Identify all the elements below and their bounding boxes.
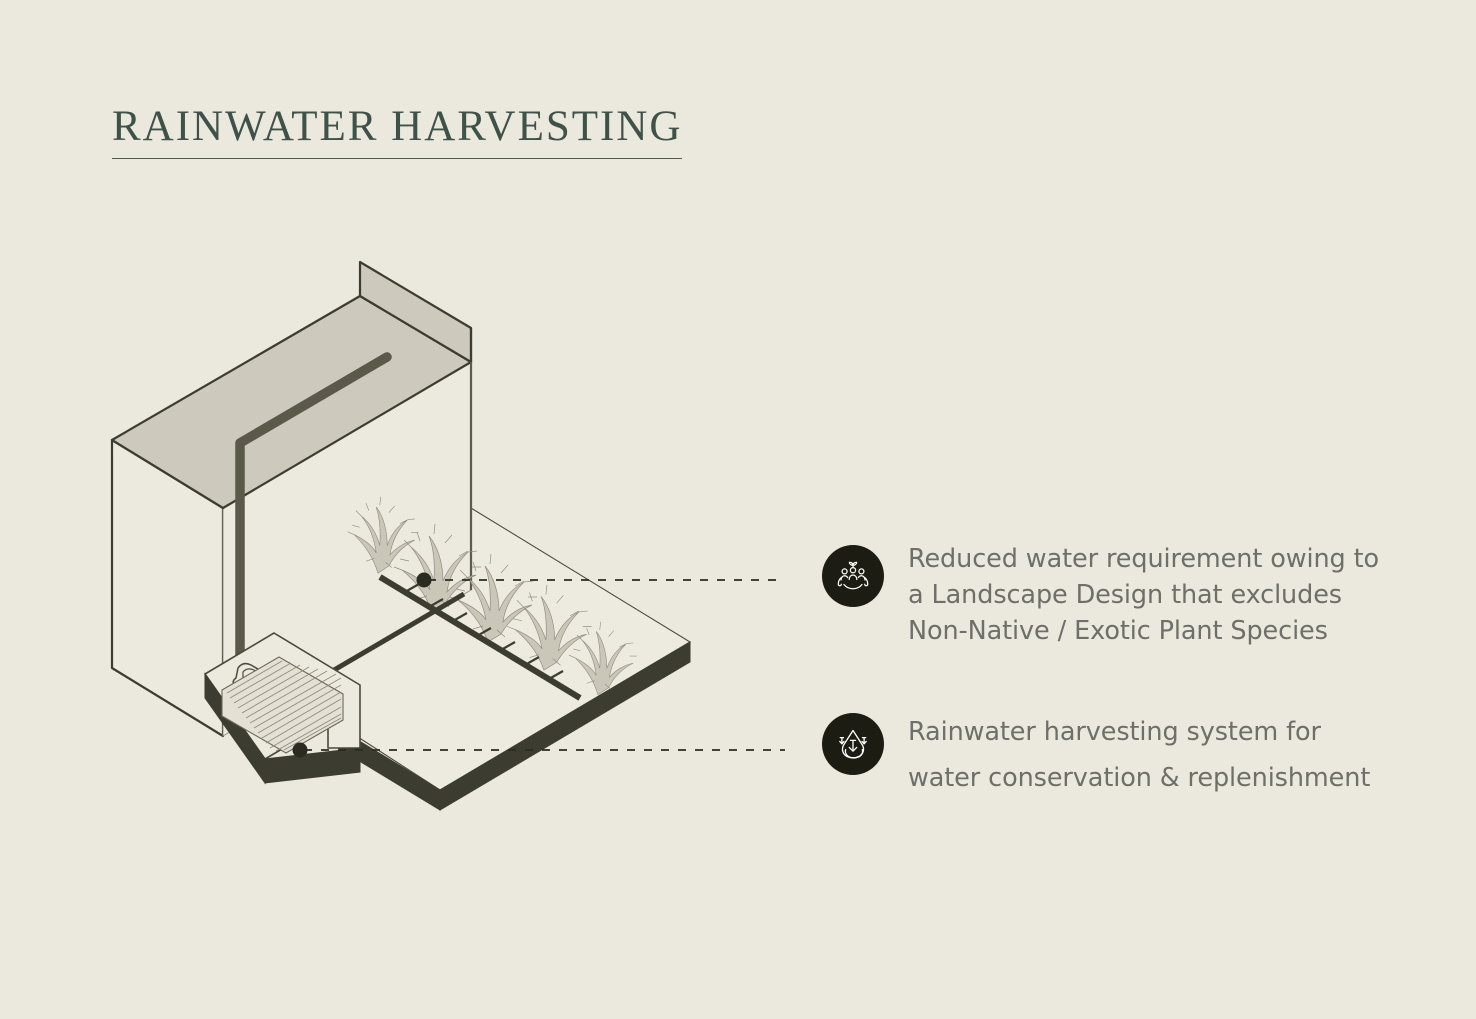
callout-native-planting: Reduced water requirement owing to a Lan… (822, 545, 1422, 649)
callout-line: Rainwater harvesting system for (908, 709, 1370, 755)
page-title: RAINWATER HARVESTING (112, 104, 682, 159)
illustration-svg (60, 250, 820, 870)
callout-line: water conservation & replenishment (908, 755, 1370, 801)
callout-line: Reduced water requirement owing to (908, 541, 1379, 577)
callout-line: a Landscape Design that excludes (908, 577, 1379, 613)
page-title-container: RAINWATER HARVESTING (112, 104, 682, 159)
people-plant-community-icon (822, 545, 884, 607)
infographic-page: RAINWATER HARVESTING (0, 0, 1476, 1019)
callout-native-planting-text: Reduced water requirement owing to a Lan… (908, 541, 1379, 649)
callout-line: Non-Native / Exotic Plant Species (908, 613, 1379, 649)
water-drop-down-arrows-icon (822, 713, 884, 775)
callout-rainwater-system-text: Rainwater harvesting system for water co… (908, 709, 1370, 801)
callout-rainwater-system: Rainwater harvesting system for water co… (822, 713, 1422, 801)
isometric-illustration (60, 250, 820, 870)
